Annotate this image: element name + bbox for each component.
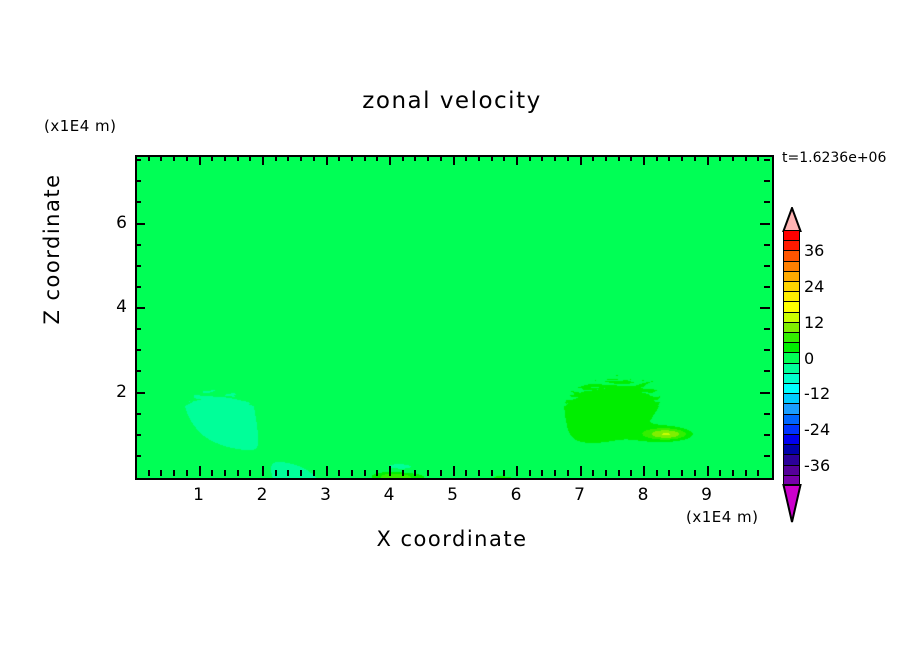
x-minor-tick-top — [694, 155, 696, 161]
x-minor-tick — [630, 470, 632, 476]
x-minor-tick-top — [554, 155, 556, 161]
y-major-tick-right — [760, 223, 770, 225]
colorbar-extend-high-arrow — [782, 207, 802, 232]
page-title: zonal velocity — [0, 88, 904, 114]
y-tick-label: 6 — [101, 213, 127, 233]
x-minor-tick-top — [427, 155, 429, 161]
x-tick-label: 6 — [501, 485, 531, 505]
y-minor-tick-right — [764, 370, 770, 372]
x-minor-tick-top — [249, 155, 251, 161]
x-minor-tick — [656, 470, 658, 476]
x-major-tick — [580, 466, 582, 476]
x-minor-tick — [364, 470, 366, 476]
x-minor-tick-top — [618, 155, 620, 161]
x-minor-tick-top — [465, 155, 467, 161]
x-major-tick — [326, 466, 328, 476]
x-minor-tick — [237, 470, 239, 476]
x-minor-tick-top — [529, 155, 531, 161]
colorbar-tick-label: 36 — [804, 241, 824, 260]
x-minor-tick-top — [719, 155, 721, 161]
y-minor-tick — [135, 201, 141, 203]
x-minor-tick-top — [668, 155, 670, 161]
x-major-tick-top — [453, 155, 455, 165]
y-minor-tick — [135, 159, 141, 161]
figure-canvas: zonal velocity (x1E4 m) t=1.6236e+06 X c… — [0, 0, 904, 654]
y-minor-tick — [135, 328, 141, 330]
y-minor-tick-right — [764, 244, 770, 246]
contour-plot-area — [135, 155, 774, 480]
x-minor-tick — [668, 470, 670, 476]
x-minor-tick-top — [605, 155, 607, 161]
y-minor-tick-right — [764, 455, 770, 457]
y-minor-tick-right — [764, 328, 770, 330]
x-major-tick — [707, 466, 709, 476]
x-major-tick — [453, 466, 455, 476]
x-minor-tick-top — [160, 155, 162, 161]
y-major-tick — [135, 307, 145, 309]
velocity-contour-field — [137, 157, 772, 478]
x-axis-unit-label: (x1E4 m) — [686, 508, 759, 526]
x-minor-tick — [503, 470, 505, 476]
x-minor-tick-top — [757, 155, 759, 161]
y-minor-tick — [135, 370, 141, 372]
x-tick-label: 7 — [565, 485, 595, 505]
y-minor-tick-right — [764, 434, 770, 436]
y-minor-tick-right — [764, 265, 770, 267]
timestamp-label: t=1.6236e+06 — [782, 150, 886, 166]
x-minor-tick-top — [440, 155, 442, 161]
x-minor-tick-top — [313, 155, 315, 161]
x-minor-tick-top — [287, 155, 289, 161]
y-tick-label: 4 — [101, 297, 127, 317]
x-minor-tick — [427, 470, 429, 476]
x-minor-tick — [491, 470, 493, 476]
x-minor-tick — [287, 470, 289, 476]
x-minor-tick-top — [148, 155, 150, 161]
x-tick-label: 5 — [438, 485, 468, 505]
x-minor-tick — [592, 470, 594, 476]
x-minor-tick — [681, 470, 683, 476]
colorbar-tick-label: -24 — [804, 420, 830, 439]
x-minor-tick — [224, 470, 226, 476]
colorbar-tick-label: 24 — [804, 277, 824, 296]
x-minor-tick — [338, 470, 340, 476]
x-major-tick — [516, 466, 518, 476]
x-minor-tick — [465, 470, 467, 476]
x-minor-tick — [376, 470, 378, 476]
x-minor-tick — [618, 470, 620, 476]
x-minor-tick — [440, 470, 442, 476]
y-minor-tick — [135, 455, 141, 457]
x-minor-tick-top — [211, 155, 213, 161]
x-minor-tick-top — [224, 155, 226, 161]
x-minor-tick-top — [414, 155, 416, 161]
y-minor-tick-right — [764, 201, 770, 203]
x-minor-tick — [249, 470, 251, 476]
x-minor-tick-top — [364, 155, 366, 161]
y-major-tick-right — [760, 307, 770, 309]
x-minor-tick — [719, 470, 721, 476]
x-major-tick-top — [262, 155, 264, 165]
x-major-tick — [643, 466, 645, 476]
x-minor-tick — [173, 470, 175, 476]
x-minor-tick-top — [173, 155, 175, 161]
x-major-tick — [199, 466, 201, 476]
x-tick-label: 8 — [628, 485, 658, 505]
x-minor-tick-top — [491, 155, 493, 161]
x-minor-tick-top — [186, 155, 188, 161]
x-minor-tick — [529, 470, 531, 476]
x-minor-tick — [402, 470, 404, 476]
y-minor-tick — [135, 244, 141, 246]
x-minor-tick — [541, 470, 543, 476]
x-minor-tick-top — [541, 155, 543, 161]
colorbar: 3624120-12-24-36 — [782, 207, 802, 517]
x-minor-tick-top — [300, 155, 302, 161]
x-tick-label: 3 — [311, 485, 341, 505]
x-minor-tick — [351, 470, 353, 476]
x-minor-tick-top — [732, 155, 734, 161]
x-minor-tick — [160, 470, 162, 476]
x-tick-label: 1 — [184, 485, 214, 505]
x-minor-tick — [567, 470, 569, 476]
x-minor-tick-top — [351, 155, 353, 161]
x-minor-tick — [732, 470, 734, 476]
x-minor-tick-top — [275, 155, 277, 161]
y-minor-tick-right — [764, 159, 770, 161]
x-minor-tick — [478, 470, 480, 476]
x-minor-tick-top — [376, 155, 378, 161]
y-minor-tick-right — [764, 413, 770, 415]
x-minor-tick-top — [745, 155, 747, 161]
colorbar-tick-label: -36 — [804, 456, 830, 475]
x-axis-title: X coordinate — [0, 527, 904, 551]
y-minor-tick — [135, 349, 141, 351]
x-minor-tick-top — [503, 155, 505, 161]
x-minor-tick — [757, 470, 759, 476]
y-major-tick — [135, 223, 145, 225]
y-tick-label: 2 — [101, 382, 127, 402]
x-minor-tick-top — [592, 155, 594, 161]
x-minor-tick-top — [478, 155, 480, 161]
x-tick-label: 2 — [247, 485, 277, 505]
y-major-tick — [135, 392, 145, 394]
x-minor-tick — [211, 470, 213, 476]
y-minor-tick-right — [764, 286, 770, 288]
x-minor-tick-top — [681, 155, 683, 161]
x-major-tick-top — [516, 155, 518, 165]
x-minor-tick — [275, 470, 277, 476]
x-minor-tick — [694, 470, 696, 476]
x-minor-tick — [605, 470, 607, 476]
x-major-tick — [262, 466, 264, 476]
x-tick-label: 4 — [374, 485, 404, 505]
x-major-tick-top — [199, 155, 201, 165]
x-major-tick-top — [389, 155, 391, 165]
y-minor-tick — [135, 180, 141, 182]
x-minor-tick-top — [656, 155, 658, 161]
x-major-tick-top — [707, 155, 709, 165]
colorbar-extend-low-arrow — [782, 484, 802, 524]
x-minor-tick — [300, 470, 302, 476]
y-axis-title: Z coordinate — [40, 169, 64, 329]
colorbar-tick-label: 0 — [804, 349, 814, 368]
x-minor-tick — [745, 470, 747, 476]
x-major-tick-top — [643, 155, 645, 165]
x-minor-tick — [186, 470, 188, 476]
y-minor-tick — [135, 413, 141, 415]
x-minor-tick — [554, 470, 556, 476]
x-major-tick — [389, 466, 391, 476]
colorbar-tick-label: -12 — [804, 384, 830, 403]
x-minor-tick-top — [567, 155, 569, 161]
x-minor-tick — [148, 470, 150, 476]
y-minor-tick-right — [764, 180, 770, 182]
colorbar-tick-label: 12 — [804, 313, 824, 332]
y-minor-tick — [135, 265, 141, 267]
y-minor-tick-right — [764, 349, 770, 351]
y-minor-tick — [135, 286, 141, 288]
x-minor-tick-top — [402, 155, 404, 161]
x-tick-label: 9 — [692, 485, 722, 505]
y-axis-unit-label: (x1E4 m) — [44, 117, 117, 135]
x-minor-tick — [414, 470, 416, 476]
x-major-tick-top — [580, 155, 582, 165]
y-major-tick-right — [760, 392, 770, 394]
x-minor-tick — [313, 470, 315, 476]
x-minor-tick-top — [338, 155, 340, 161]
x-major-tick-top — [326, 155, 328, 165]
x-minor-tick-top — [630, 155, 632, 161]
y-minor-tick — [135, 434, 141, 436]
x-minor-tick-top — [237, 155, 239, 161]
